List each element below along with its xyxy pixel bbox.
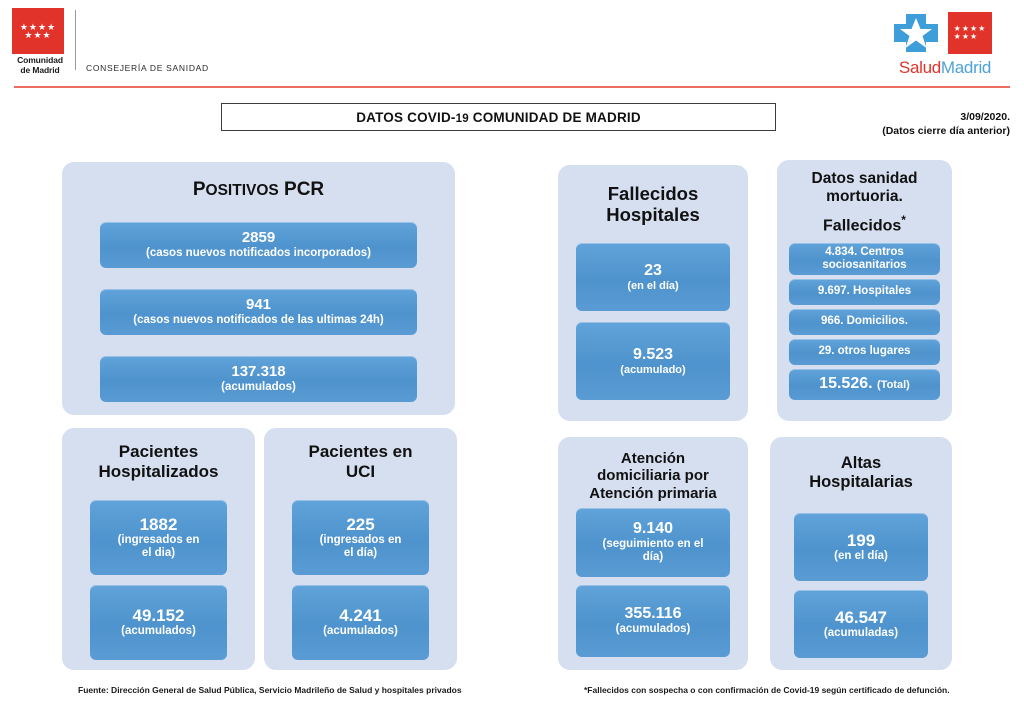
stat-box: 9.697. Hospitales [789,279,940,305]
stat-box: 966. Domicilios. [789,309,940,335]
panel-title-pacientes-hospitalizados: Pacientes Hospitalizados [62,428,255,481]
stat-label-line-1: (en el día) [834,550,888,563]
stat-box: 29. otros lugares [789,339,940,365]
stat-box: 1882 (ingresados en el dia) [90,500,227,575]
salud-madrid-red-square-icon: ★★★★ ★★★ [948,12,992,54]
panel-pacientes-hospitalizados: Pacientes Hospitalizados 1882 (ingresado… [62,428,255,670]
title-line-2: mortuoria. [777,188,952,206]
stat-label-line-1: 966. Domicilios. [821,315,908,328]
stat-label-line-1: (seguimiento en el [603,538,704,551]
panel-title-altas-hospitalarias: Altas Hospitalarias [770,437,952,492]
logo-line-de-madrid: de Madrid [12,66,68,76]
title-line-1: Altas [770,454,952,473]
footnote-source: Fuente: Dirección General de Salud Públi… [78,685,462,695]
pcr-title-rest: PCR [279,179,324,200]
stat-label-line-2: el día) [344,547,377,560]
stat-label: (acumulados) [221,381,296,394]
stat-label-line-1: 9.697. Hospitales [818,285,911,298]
title-line-1: Pacientes [62,442,255,462]
stat-value: 355.116 [625,605,682,623]
stat-label: (casos nuevos notificados de las ultimas… [133,314,384,327]
panel-title-sanidad-mortuoria: Datos sanidad mortuoria. [777,160,952,206]
stat-label-line-1: (acumulados) [121,625,196,638]
title-line-2: Hospitales [558,204,748,225]
stat-box: 23 (en el día) [576,243,730,311]
stat-value: 49.152 [133,606,185,625]
comunidad-de-madrid-logo: ★★★★ ★★★ Comunidad de Madrid [12,8,68,75]
stat-value: 941 [246,297,271,314]
total-value: 15.526. [819,375,872,392]
panel-altas-hospitalarias: Altas Hospitalarias 199 (en el día) 46.5… [770,437,952,670]
wordmark-salud: Salud [899,58,941,77]
stat-box: 46.547 (acumuladas) [794,590,928,658]
title-line-1: Atención [558,450,748,467]
title-line-1: Fallecidos [558,183,748,204]
stat-label-line-1: (acumulados) [616,623,691,636]
panel-datos-sanidad-mortuoria: Datos sanidad mortuoria. Fallecidos* 4.8… [777,160,952,421]
stat-label-line-1: 29. otros lugares [818,345,910,358]
wordmark-madrid: Madrid [941,58,991,77]
salud-madrid-logo: ★★★★ ★★★ SaludMadrid [890,8,1010,78]
report-date-value: 3/09/2020. [882,110,1010,124]
stat-box: 9.140 (seguimiento en el día) [576,508,730,577]
stat-label-line-1: 4.834. Centros [825,246,904,259]
stat-box: 355.116 (acumulados) [576,585,730,657]
report-date-note: (Datos cierre día anterior) [882,124,1010,138]
stat-box: 49.152 (acumulados) [90,585,227,660]
stat-label-line-2: día) [643,551,663,564]
panel-subtitle-fallecidos: Fallecidos* [777,206,952,235]
header-divider [75,10,76,70]
stat-box: 941 (casos nuevos notificados de las ult… [100,289,417,335]
footnote-asterisk: *Fallecidos con sospecha o con confirmac… [584,685,950,695]
header-rule [14,86,1010,88]
pcr-title-cap: P [193,179,206,200]
stat-box-total: 15.526. (Total) [789,369,940,400]
panel-title-pacientes-uci: Pacientes en UCI [264,428,457,481]
stat-box: 2859 (casos nuevos notificados incorpora… [100,222,417,268]
stat-value: 46.547 [835,608,887,627]
department-label: CONSEJERÍA DE SANIDAD [86,63,209,73]
sm-stars-bottom: ★★★ [954,33,987,41]
stat-label-line-1: (ingresados en [320,534,402,547]
stat-value: 23 [644,262,662,280]
panel-title-atencion-domiciliaria: Atención domiciliaria por Atención prima… [558,437,748,502]
pcr-title-small: OSITIVOS [206,182,279,199]
page-title-box: DATOS COVID-19 COMUNIDAD DE MADRID [221,103,776,131]
stat-value: 9.140 [633,520,673,538]
panel-positivos-pcr: POSITIVOS PCR 2859 (casos nuevos notific… [62,162,455,415]
stat-label-line-2: sociosanitarios [822,259,906,272]
stars-bottom-row: ★★★ [20,31,56,39]
stat-value: 199 [847,531,875,550]
stat-label: (acumulado) [620,364,685,377]
panel-pacientes-uci: Pacientes en UCI 225 (ingresados en el d… [264,428,457,670]
stat-label-line-1: (ingresados en [118,534,200,547]
stat-label-line-2: el dia) [142,547,175,560]
stat-value: 137.318 [231,364,285,381]
stat-box: 199 (en el día) [794,513,928,581]
title-line-1: Datos sanidad [777,170,952,188]
title-line-2: domiciliaria por [558,467,748,484]
stat-box: 9.523 (acumulado) [576,322,730,400]
stat-value: 4.241 [339,606,382,625]
title-line-2: UCI [264,462,457,482]
panel-title-positivos-pcr: POSITIVOS PCR [62,162,455,201]
page-title: DATOS COVID-19 COMUNIDAD DE MADRID [356,110,641,125]
stat-label: (casos nuevos notificados incorporados) [146,247,371,260]
panel-title-fallecidos-hospitales: Fallecidos Hospitales [558,165,748,226]
stat-label-line-1: (acumuladas) [824,627,898,640]
stat-value: 1882 [140,515,178,534]
page-header: ★★★★ ★★★ Comunidad de Madrid CONSEJERÍA … [0,0,1024,90]
stat-box: 137.318 (acumulados) [100,356,417,402]
report-date: 3/09/2020. (Datos cierre día anterior) [882,110,1010,138]
page-title-part-c: COMUNIDAD DE MADRID [469,110,641,125]
title-line-1: Pacientes en [264,442,457,462]
stat-value: 225 [346,515,374,534]
madrid-coat-of-arms-icon: ★★★★ ★★★ [12,8,64,54]
title-line-2: Hospitalizados [62,462,255,482]
stat-box: 4.834. Centros sociosanitarios [789,243,940,275]
page-title-part-b: 19 [456,113,469,125]
footnote-marker: * [901,213,906,227]
stat-box: 225 (ingresados en el día) [292,500,429,575]
total-label: (Total) [877,379,910,391]
title-line-2: Hospitalarias [770,473,952,492]
panel-atencion-domiciliaria: Atención domiciliaria por Atención prima… [558,437,748,670]
subtitle-text: Fallecidos [823,217,901,234]
salud-madrid-cross-icon [890,10,942,56]
stat-label: (en el día) [627,280,678,293]
stat-box: 4.241 (acumulados) [292,585,429,660]
page-title-part-a: DATOS COVID- [356,110,455,125]
stat-label-line-1: (acumulados) [323,625,398,638]
stat-value: 9.523 [633,346,673,364]
title-line-3: Atención primaria [558,485,748,502]
salud-madrid-wordmark: SaludMadrid [890,58,1000,78]
stat-value: 2859 [242,230,275,247]
panel-fallecidos-hospitales: Fallecidos Hospitales 23 (en el día) 9.5… [558,165,748,421]
